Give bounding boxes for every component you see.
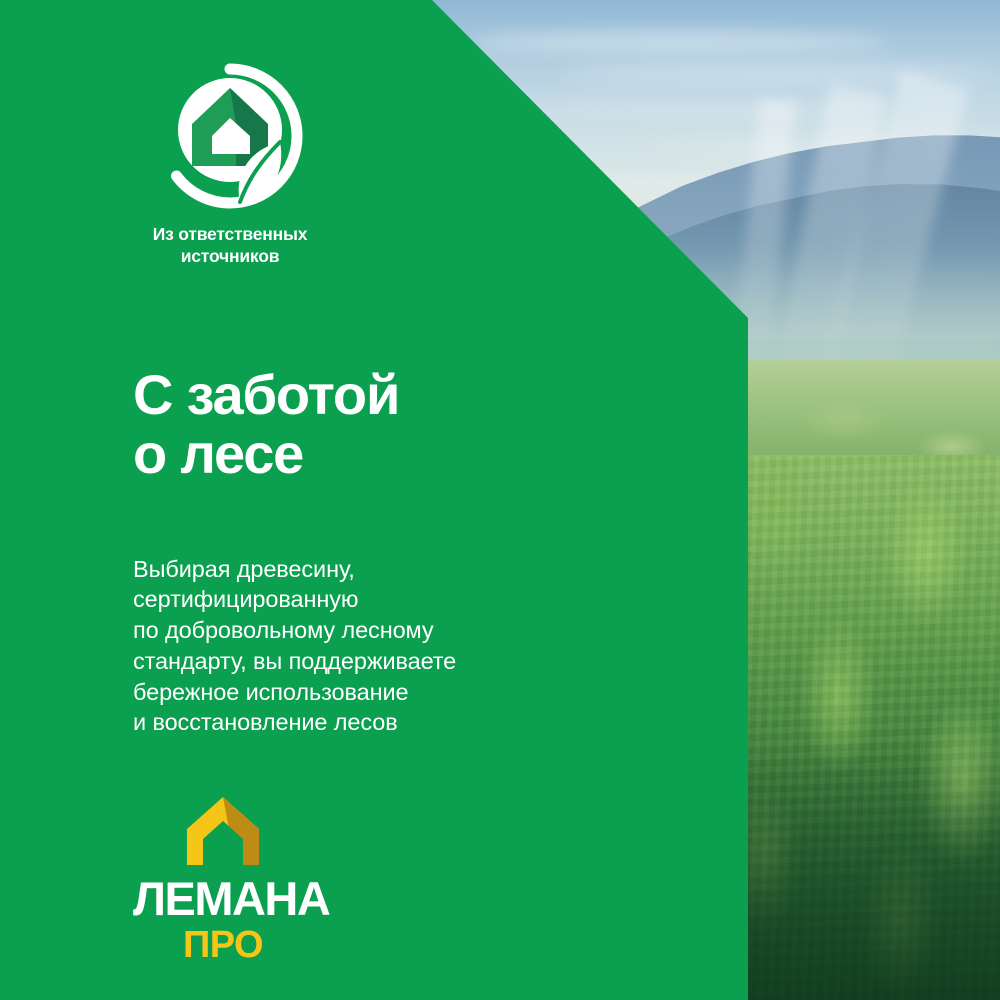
page-title: С заботой о лесе bbox=[133, 365, 399, 485]
badge-caption: Из ответственных источников bbox=[130, 224, 330, 268]
brand-name: ЛЕМАНА bbox=[133, 875, 313, 922]
certification-badge: Из ответственных источников bbox=[130, 62, 330, 268]
brand-subname: ПРО bbox=[133, 926, 313, 964]
eco-promo-poster: Из ответственных источников С заботой о … bbox=[0, 0, 1000, 1000]
house-leaf-circle-icon bbox=[156, 62, 304, 210]
body-paragraph: Выбирая древесину, сертифицированную по … bbox=[133, 554, 456, 739]
lemana-pro-logo: ЛЕМАНА ПРО bbox=[133, 795, 313, 964]
poster-content: Из ответственных источников С заботой о … bbox=[0, 0, 1000, 1000]
lemana-pro-house-icon bbox=[185, 795, 261, 867]
